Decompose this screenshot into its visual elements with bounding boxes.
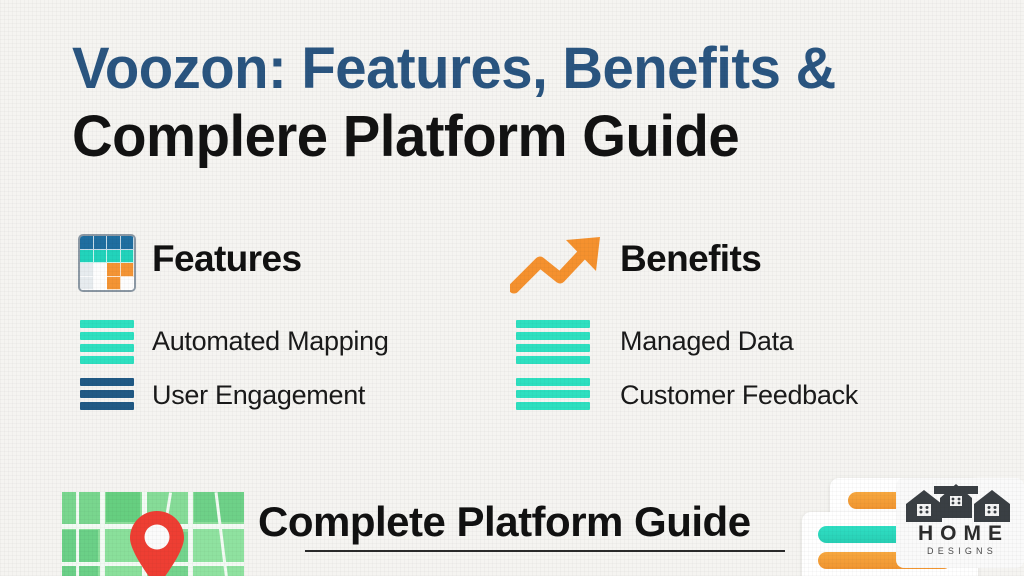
house-roofs-icon bbox=[904, 482, 1016, 522]
benefits-heading-row: Benefits bbox=[508, 232, 938, 298]
map-pin-icon bbox=[126, 510, 188, 576]
bullet-marker-bars-teal bbox=[516, 320, 590, 368]
features-bullet-list: Automated Mapping User Engagement bbox=[78, 318, 508, 438]
footer-divider bbox=[305, 550, 785, 552]
benefits-bullet-list: Managed Data Customer Feedback bbox=[508, 318, 938, 438]
bullet-label-customer-feedback: Customer Feedback bbox=[620, 380, 858, 411]
page-title: Voozon: Features, Benefits & Complere Pl… bbox=[72, 35, 972, 171]
benefits-heading-label: Benefits bbox=[620, 238, 761, 280]
title-line-1: Voozon: Features, Benefits & bbox=[72, 35, 945, 103]
footer-title: Complete Platform Guide bbox=[258, 498, 751, 546]
features-heading-label: Features bbox=[152, 238, 301, 280]
benefits-column: Benefits Managed Data Customer Feedback bbox=[508, 232, 938, 438]
bullet-label-automated-mapping: Automated Mapping bbox=[152, 326, 389, 357]
bullet-label-user-engagement: User Engagement bbox=[152, 380, 365, 411]
bullet-label-managed-data: Managed Data bbox=[620, 326, 794, 357]
features-column: Features Automated Mapping User Engageme… bbox=[78, 232, 508, 438]
logo-name: HOME bbox=[896, 522, 1024, 546]
poster-canvas: Voozon: Features, Benefits & Complere Pl… bbox=[0, 0, 1024, 576]
title-line-2: Complere Platform Guide bbox=[72, 103, 945, 171]
bullet-marker-bars-teal bbox=[516, 378, 590, 414]
spreadsheet-table-icon bbox=[78, 234, 136, 292]
logo-tagline: DESIGNS bbox=[896, 546, 1024, 556]
bullet-marker-bars-teal bbox=[80, 320, 134, 368]
home-designs-logo: HOME DESIGNS bbox=[792, 478, 1024, 576]
trending-up-arrow-icon bbox=[510, 234, 606, 294]
logo-badge: HOME DESIGNS bbox=[896, 478, 1024, 568]
bullet-marker-bars-navy bbox=[80, 378, 134, 414]
features-heading-row: Features bbox=[78, 232, 508, 298]
